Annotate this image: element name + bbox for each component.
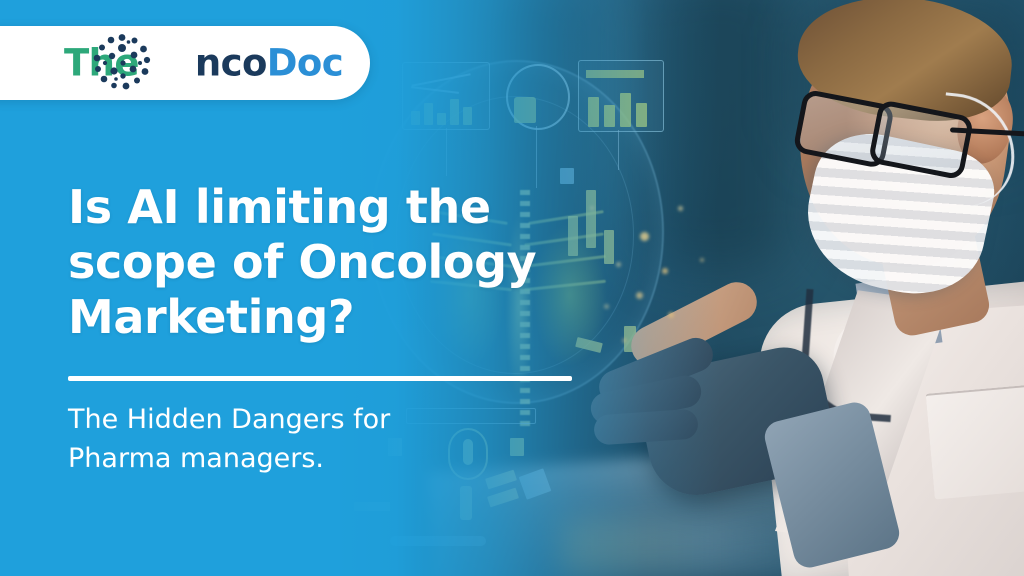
headline-line-3: Marketing? <box>68 290 608 345</box>
subheadline-line-2: Pharma managers. <box>68 439 538 478</box>
logo-doc-text: Doc <box>267 42 343 85</box>
marketing-banner: ThencoDoc <box>0 0 1024 576</box>
headline: Is AI limiting the scope of Oncology Mar… <box>68 180 608 345</box>
cancer-cell-molecule-icon <box>92 33 152 93</box>
subheadline-line-1: The Hidden Dangers for <box>68 400 538 439</box>
coat-pocket <box>926 383 1024 500</box>
logo-nco-text: nco <box>195 42 267 85</box>
subheadline: The Hidden Dangers for Pharma managers. <box>68 400 538 478</box>
headline-line-1: Is AI limiting the <box>68 180 608 235</box>
divider-rule <box>68 376 572 381</box>
logo-pill[interactable]: ThencoDoc <box>0 26 370 100</box>
headline-line-2: scope of Oncology <box>68 235 608 290</box>
